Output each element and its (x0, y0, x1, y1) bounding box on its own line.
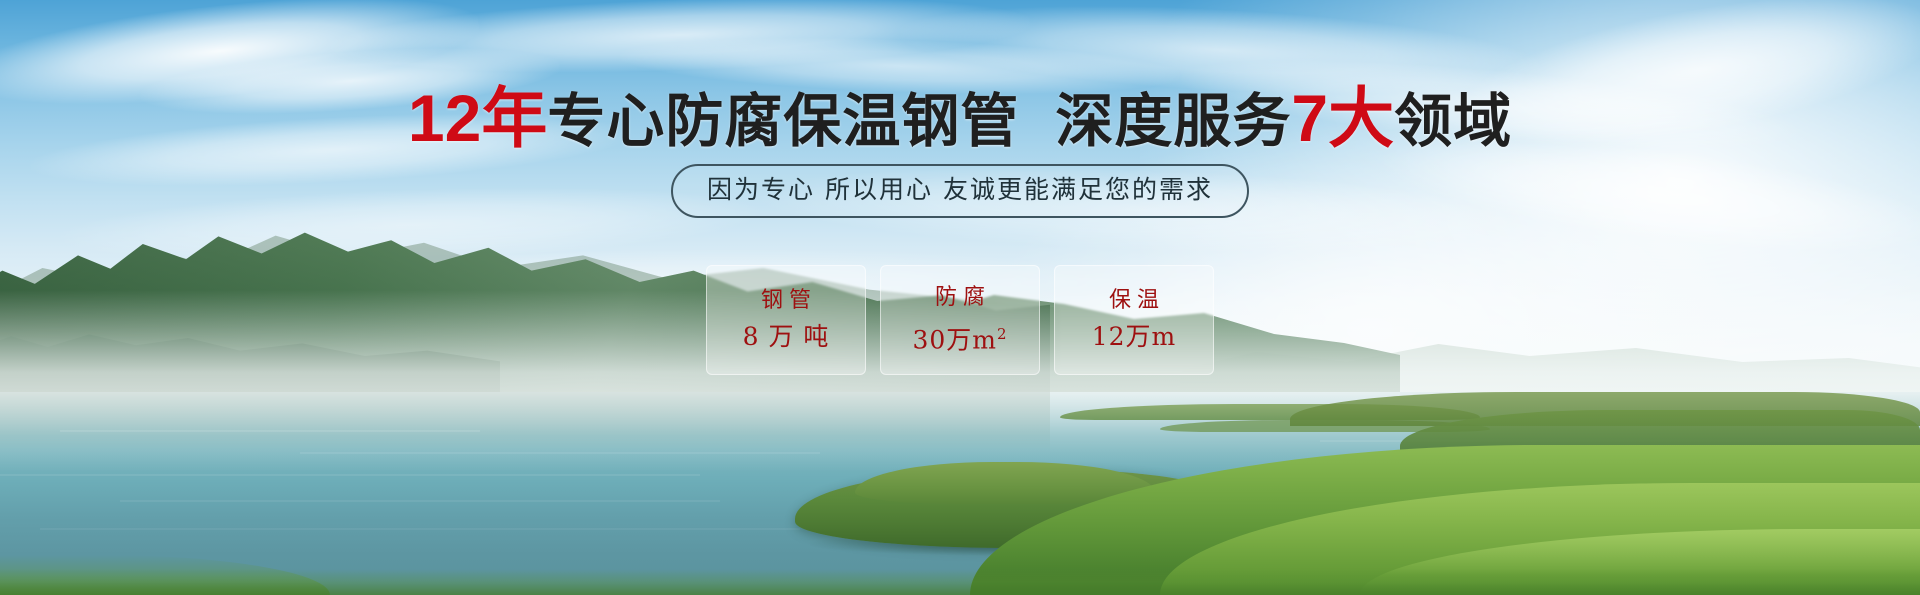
stat-label: 防腐 (929, 286, 991, 310)
hero-banner: 12年专心防腐保温钢管深度服务7大领域 因为专心 所以用心 友诚更能满足您的需求… (0, 0, 1920, 595)
stat-value-text: 30万m (912, 325, 997, 354)
headline-sectors-text: 领域 (1394, 89, 1512, 154)
stat-label: 钢管 (755, 289, 817, 313)
subtitle-pill: 因为专心 所以用心 友诚更能满足您的需求 (671, 164, 1249, 218)
stat-value: 8 万 吨 (743, 323, 830, 351)
stat-value-text: 12万m (1092, 322, 1177, 351)
stat-value: 30万m2 (912, 320, 1007, 354)
stat-label: 保温 (1103, 289, 1165, 313)
stat-value: 12万m (1092, 323, 1177, 351)
banner-content: 12年专心防腐保温钢管深度服务7大领域 因为专心 所以用心 友诚更能满足您的需求… (0, 0, 1920, 595)
headline-sectors-count: 7大 (1291, 81, 1394, 155)
stats-row: 钢管 8 万 吨 防腐 30万m2 保温 12万m (0, 265, 1920, 375)
stat-value-text: 8 万 吨 (743, 322, 830, 351)
headline: 12年专心防腐保温钢管深度服务7大领域 (0, 86, 1920, 154)
headline-years: 12年 (408, 81, 547, 155)
subtitle-container: 因为专心 所以用心 友诚更能满足您的需求 (0, 164, 1920, 218)
stat-value-superscript: 2 (997, 325, 1008, 343)
stat-card-insulation[interactable]: 保温 12万m (1054, 265, 1214, 375)
stat-card-anticorrosion[interactable]: 防腐 30万m2 (880, 265, 1040, 375)
headline-focus-text: 专心防腐保温钢管 (547, 89, 1019, 154)
stat-card-steel-pipe[interactable]: 钢管 8 万 吨 (706, 265, 866, 375)
headline-service-text: 深度服务 (1055, 89, 1291, 154)
